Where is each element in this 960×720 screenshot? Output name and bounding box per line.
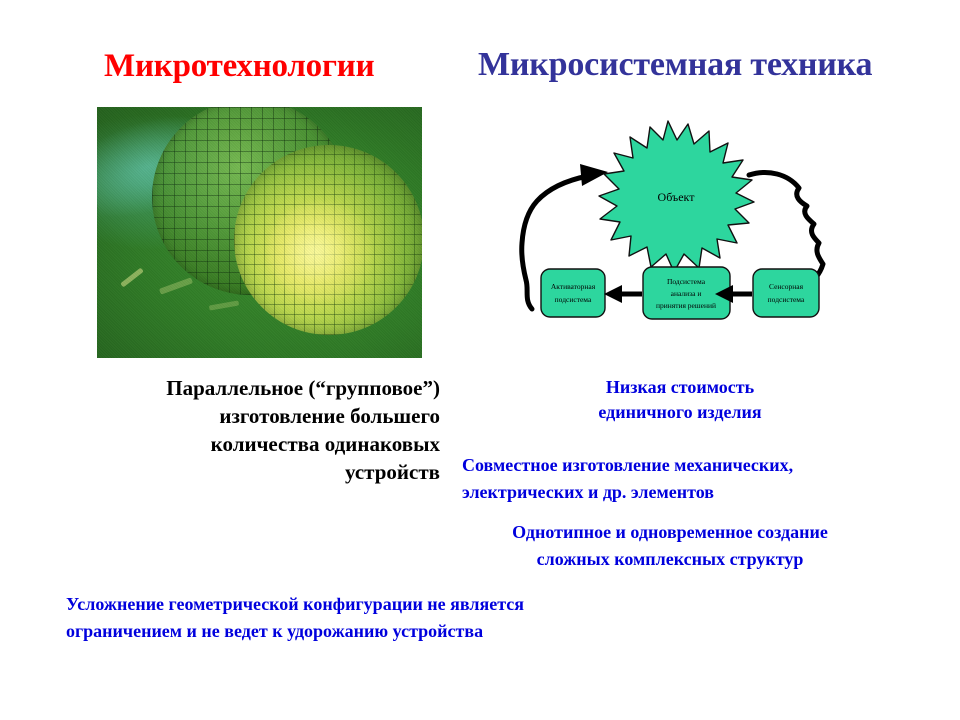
object-star-label: Объект [658, 190, 696, 204]
arrow-analysis-to-actuator-icon [604, 285, 642, 303]
text-parallel-manufacturing-line-2: изготовление большего [40, 402, 440, 430]
node-analysis-line-2: анализа и [671, 289, 702, 298]
page-title-right: Микросистемная техника [478, 46, 872, 84]
page-title-left: Микротехнологии [104, 47, 374, 85]
node-actuator-line-1: Активаторная [551, 282, 596, 291]
wafer-photo [97, 107, 422, 358]
text-geometry-complexity-line-2: ограничением и не ведет к удорожанию уст… [66, 618, 806, 645]
node-sensor-line-1: Сенсорная [769, 282, 804, 291]
node-actuator-line-2: подсистема [555, 295, 592, 304]
chip-fragment-c [209, 300, 239, 310]
microsystem-diagram: Объект Активаторная подсистема Подсистем… [496, 112, 896, 342]
text-joint-fabrication: Совместное изготовление механических, эл… [462, 452, 952, 506]
text-joint-fabrication-line-2: электрических и др. элементов [462, 479, 952, 506]
chip-fragment-b [159, 277, 193, 294]
node-sensor-line-2: подсистема [768, 295, 805, 304]
text-uniform-creation: Однотипное и одновременное создание слож… [410, 519, 930, 573]
node-actuator-subsystem: Активаторная подсистема [541, 269, 605, 317]
node-sensor-subsystem: Сенсорная подсистема [753, 269, 819, 317]
wafer-front-disc [234, 145, 422, 335]
text-parallel-manufacturing-line-4: устройств [40, 458, 440, 486]
node-analysis-line-1: Подсистема [667, 277, 706, 286]
text-geometry-complexity: Усложнение геометрической конфигурации н… [66, 591, 806, 645]
text-parallel-manufacturing: Параллельное (“групповое”) изготовление … [40, 374, 440, 486]
text-low-cost-line-1: Низкая стоимость [470, 375, 890, 400]
text-low-cost: Низкая стоимость единичного изделия [470, 375, 890, 425]
text-uniform-creation-line-1: Однотипное и одновременное создание [410, 519, 930, 546]
node-analysis-subsystem: Подсистема анализа и принятия решений [643, 267, 730, 319]
node-analysis-line-3: принятия решений [656, 301, 716, 310]
text-parallel-manufacturing-line-1: Параллельное (“групповое”) [40, 374, 440, 402]
object-star-node: Объект [599, 121, 754, 272]
presentation-slide: Микротехнологии Микросистемная техника [0, 0, 960, 720]
text-uniform-creation-line-2: сложных комплексных структур [410, 546, 930, 573]
chip-fragment-a [120, 268, 144, 288]
text-parallel-manufacturing-line-3: количества одинаковых [40, 430, 440, 458]
text-low-cost-line-2: единичного изделия [470, 400, 890, 425]
text-geometry-complexity-line-1: Усложнение геометрической конфигурации н… [66, 591, 806, 618]
text-joint-fabrication-line-1: Совместное изготовление механических, [462, 452, 952, 479]
